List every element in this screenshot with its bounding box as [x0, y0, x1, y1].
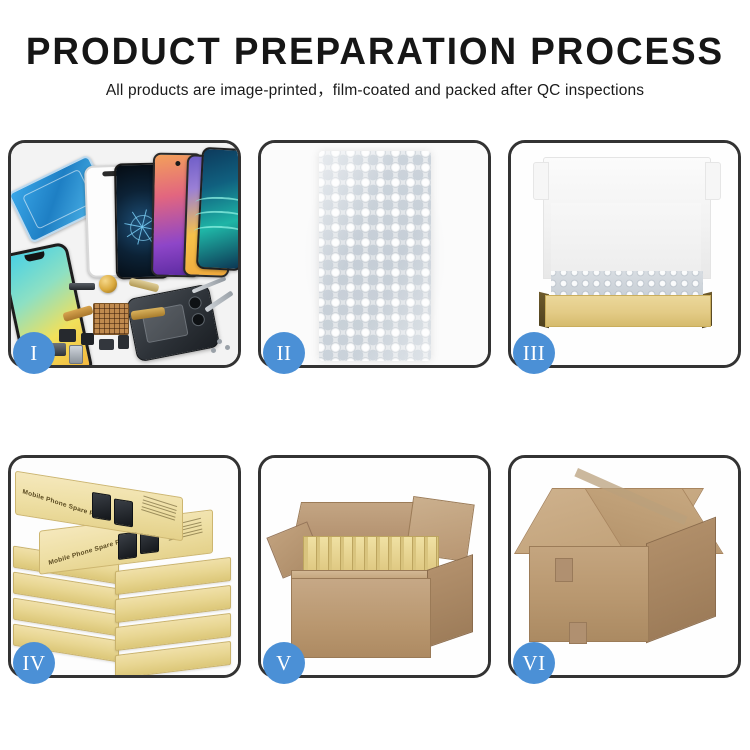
carton-tab	[569, 622, 587, 644]
step-2-image	[261, 143, 488, 365]
punch-hole-camera	[175, 161, 180, 166]
camera-lens-icon	[191, 312, 206, 327]
chip-part	[81, 333, 94, 345]
step-badge-4: IV	[13, 642, 55, 684]
carton-front-panel	[291, 578, 431, 658]
step-badge-6: VI	[513, 642, 555, 684]
chip-part	[118, 335, 129, 349]
box-label-spec-lines	[141, 496, 177, 523]
carton-side-panel	[427, 554, 473, 648]
page-title: PRODUCT PREPARATION PROCESS	[11, 30, 739, 74]
wallpaper-wave	[194, 210, 238, 227]
process-step-panel-2: II	[258, 140, 491, 368]
wallpaper-wave	[195, 196, 238, 213]
phone-notch	[24, 251, 45, 262]
metal-bracket-part	[69, 283, 95, 290]
box-label-phone-image	[92, 492, 111, 521]
battery-part	[69, 345, 83, 364]
box-label-phone-image	[118, 532, 137, 560]
step-6-image	[511, 458, 738, 675]
screw-part	[225, 345, 230, 350]
step-badge-2: II	[263, 332, 305, 374]
process-step-panel-1: I	[8, 140, 241, 368]
page-header: PRODUCT PREPARATION PROCESS All products…	[0, 0, 750, 102]
step-badge-5: V	[263, 642, 305, 684]
process-step-panel-5: V	[258, 455, 491, 678]
copper-coil-part	[99, 275, 117, 293]
step-4-image: Mobile Phone Spare Parts Mobile Phone Sp…	[11, 458, 238, 675]
process-step-panel-3: III	[508, 140, 741, 368]
step-badge-3: III	[513, 332, 555, 374]
box-label-phone-image	[114, 498, 133, 527]
carton-front-panel	[529, 546, 649, 642]
step-1-image	[11, 143, 238, 365]
process-step-grid: I II III	[8, 140, 742, 678]
teal-wave-phone	[196, 147, 238, 271]
page-subtitle: All products are image-printed，film-coat…	[0, 80, 750, 102]
process-step-panel-4: Mobile Phone Spare Parts Mobile Phone Sp…	[8, 455, 241, 678]
chip-part	[99, 339, 114, 350]
screw-part	[211, 348, 216, 353]
camera-lens-icon	[187, 295, 202, 310]
screw-part	[217, 339, 222, 344]
step-badge-1: I	[13, 332, 55, 374]
bubble-wrap-sheet	[319, 151, 431, 361]
wallpaper-wave	[193, 224, 238, 241]
kraft-box-front	[545, 295, 711, 327]
box-interior	[551, 203, 701, 277]
step-5-image	[261, 458, 488, 675]
logic-board-part	[93, 303, 129, 335]
carton-tab	[555, 558, 573, 582]
box-stack: Mobile Phone Spare Parts Mobile Phone Sp…	[11, 458, 238, 675]
chip-part	[59, 329, 76, 342]
process-step-panel-6: VI	[508, 455, 741, 678]
step-3-image	[511, 143, 738, 365]
